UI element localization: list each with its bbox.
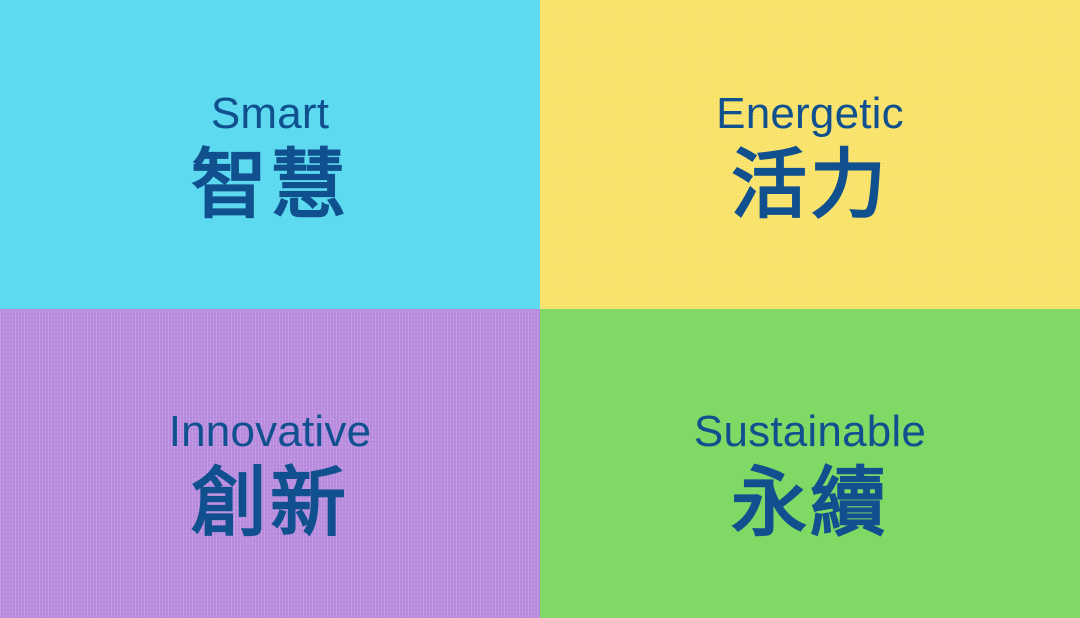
quadrant-smart-chinese-label: 智慧 xyxy=(191,148,349,224)
quadrant-innovative-textblock: Innovative 創新 xyxy=(169,410,372,542)
quadrant-sustainable-chinese-label: 永續 xyxy=(731,466,889,542)
quadrant-innovative-english-label: Innovative xyxy=(169,410,372,454)
quadrant-energetic-chinese-label: 活力 xyxy=(731,148,889,224)
quadrant-sustainable-english-label: Sustainable xyxy=(694,410,926,454)
quadrant-energetic-english-label: Energetic xyxy=(716,92,904,136)
quadrant-energetic-textblock: Energetic 活力 xyxy=(716,92,904,224)
quadrant-smart[interactable]: Smart 智慧 xyxy=(0,0,540,309)
quadrant-innovative-chinese-label: 創新 xyxy=(191,466,349,542)
quadrant-innovative[interactable]: Innovative 創新 xyxy=(0,309,540,618)
quadrant-sustainable-textblock: Sustainable 永續 xyxy=(694,410,926,542)
quadrant-energetic[interactable]: Energetic 活力 xyxy=(540,0,1080,309)
quadrant-sustainable[interactable]: Sustainable 永續 xyxy=(540,309,1080,618)
quadrant-smart-english-label: Smart xyxy=(211,92,329,136)
quadrant-smart-textblock: Smart 智慧 xyxy=(191,92,349,224)
brand-values-grid: Smart 智慧 Energetic 活力 Innovative 創新 Sust… xyxy=(0,0,1080,618)
